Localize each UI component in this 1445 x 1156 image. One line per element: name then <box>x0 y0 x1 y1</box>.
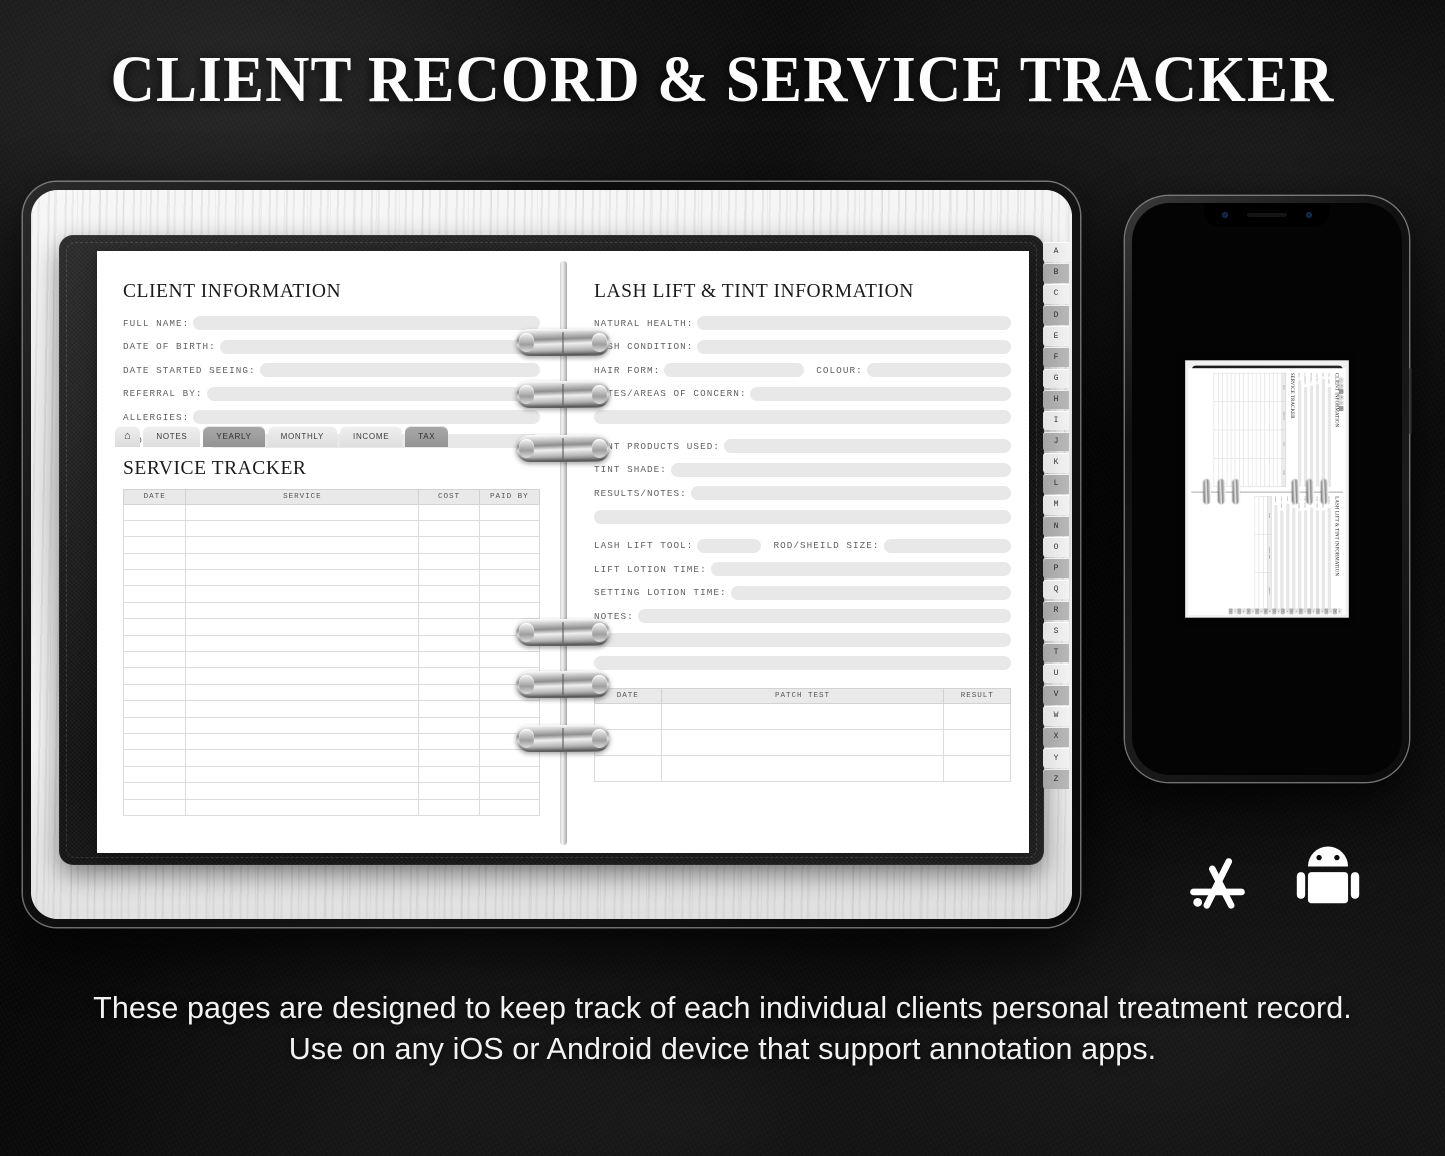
mini-planner-spread: ⌂ N Y M I T CLIENT INFORMATION FULL NAME… <box>1188 368 1345 615</box>
mini-binder-ring <box>1233 479 1240 504</box>
table-cell[interactable] <box>124 799 186 815</box>
table-cell[interactable] <box>479 537 539 553</box>
field-label-rod-shield-size: ROD/SHEILD SIZE: <box>773 540 879 551</box>
mini-field: MEDS: <box>1298 373 1302 487</box>
table-cell[interactable] <box>124 684 186 700</box>
field-results-notes-line2[interactable] <box>594 510 1011 524</box>
mini-field: RESULTS: <box>1292 496 1296 610</box>
table-row[interactable] <box>595 704 1011 730</box>
phone-screen: ⌂ N Y M I T CLIENT INFORMATION FULL NAME… <box>1132 203 1402 775</box>
notes-areas-of-concern-input-2[interactable] <box>594 410 1011 424</box>
nav-tab-monthly[interactable]: MONTHLY <box>268 426 337 447</box>
field-setting-lotion-time[interactable]: SETTING LOTION TIME: <box>594 586 1011 600</box>
date-started-seeing-input[interactable] <box>260 363 540 377</box>
table-row[interactable] <box>124 553 540 569</box>
field-hair-form-colour[interactable]: HAIR FORM: COLOUR: <box>594 363 1011 377</box>
table-cell[interactable] <box>595 756 662 782</box>
index-tab-p[interactable]: P <box>1043 558 1069 578</box>
table-cell[interactable] <box>124 520 186 536</box>
table-cell[interactable] <box>124 652 186 668</box>
table-row[interactable] <box>124 799 540 815</box>
table-cell[interactable] <box>419 537 479 553</box>
table-row[interactable] <box>124 619 540 635</box>
table-row[interactable] <box>124 602 540 618</box>
index-tab-d[interactable]: D <box>1043 305 1069 325</box>
index-tab-u[interactable]: U <box>1043 664 1069 684</box>
index-tab-f[interactable]: F <box>1043 347 1069 367</box>
field-tint-shade[interactable]: TINT SHADE: <box>594 463 1011 477</box>
phone-mockup: ⌂ N Y M I T CLIENT INFORMATION FULL NAME… <box>1125 196 1409 782</box>
column-header: SERVICE <box>186 489 419 504</box>
table-cell[interactable] <box>124 766 186 782</box>
table-cell[interactable] <box>124 701 186 717</box>
service-tracker-heading: SERVICE TRACKER <box>123 458 540 480</box>
table-cell[interactable] <box>419 570 479 586</box>
phone-notch <box>1204 203 1330 227</box>
mini-field: STARTED: <box>1316 373 1320 487</box>
mini-binder-ring <box>1307 479 1314 504</box>
mini-field: DOB: <box>1322 373 1326 487</box>
mini-field: CONCERN: <box>1310 496 1314 610</box>
binder-ring <box>516 329 610 356</box>
table-cell[interactable] <box>124 733 186 749</box>
index-tab-c[interactable]: C <box>1043 284 1069 304</box>
field-label: TINT SHADE: <box>594 464 667 475</box>
mini-field: LASH COND: <box>1322 496 1326 610</box>
lash-lift-tool-input[interactable] <box>697 539 761 553</box>
table-cell[interactable] <box>419 783 479 799</box>
field-date-of-birth[interactable]: DATE OF BIRTH: <box>123 340 540 354</box>
mini-service-table: DATESERVICECOSTPAID <box>1214 373 1286 487</box>
table-cell[interactable] <box>124 619 186 635</box>
mini-right-page: LASH LIFT & TINT INFORMATION NATURAL: LA… <box>1188 492 1345 615</box>
table-cell[interactable] <box>419 652 479 668</box>
table-row[interactable] <box>124 701 540 717</box>
table-cell[interactable] <box>186 537 419 553</box>
mini-binder-ring <box>1218 479 1225 504</box>
mini-nav-tab: I <box>1339 401 1344 405</box>
index-tab-z[interactable]: Z <box>1043 769 1069 789</box>
app-store-icon[interactable] <box>1180 842 1258 925</box>
index-tab-m[interactable]: M <box>1043 495 1069 515</box>
table-cell[interactable] <box>186 766 419 782</box>
front-camera-icon <box>1222 212 1228 218</box>
table-cell[interactable] <box>479 750 539 766</box>
table-cell[interactable] <box>186 586 419 602</box>
table-cell[interactable] <box>944 704 1011 730</box>
table-header-row: DATEPATCH TESTRESULT <box>595 689 1011 704</box>
mini-nav-tab: Y <box>1339 389 1344 394</box>
field-tint-products-used[interactable]: TINT PRODUCTS USED: <box>594 439 1011 453</box>
table-cell[interactable] <box>944 756 1011 782</box>
table-cell[interactable] <box>419 799 479 815</box>
table-cell[interactable] <box>479 586 539 602</box>
field-date-started-seeing[interactable]: DATE STARTED SEEING: <box>123 363 540 377</box>
field-notes-line3[interactable] <box>594 656 1011 670</box>
field-label: DATE STARTED SEEING: <box>123 365 256 376</box>
field-label: DATE OF BIRTH: <box>123 341 216 352</box>
table-cell[interactable] <box>419 619 479 635</box>
mini-field: NOTES: <box>1274 496 1278 610</box>
table-cell[interactable] <box>419 586 479 602</box>
nav-tab-home[interactable]: ⌂ <box>115 426 140 447</box>
table-body[interactable] <box>124 504 540 815</box>
table-cell[interactable] <box>124 717 186 733</box>
table-cell[interactable] <box>186 635 419 651</box>
table-cell[interactable] <box>419 750 479 766</box>
table-row[interactable] <box>124 783 540 799</box>
index-tab-r[interactable]: R <box>1043 601 1069 621</box>
field-label: HAIR FORM: <box>594 365 660 376</box>
table-cell[interactable] <box>419 504 479 520</box>
field-referral-by[interactable]: REFERRAL BY: <box>123 387 540 401</box>
tint-shade-input[interactable] <box>671 463 1011 477</box>
table-cell[interactable] <box>124 635 186 651</box>
binder-ring <box>516 619 610 646</box>
field-lash-condition[interactable]: LASH CONDITION: <box>594 340 1011 354</box>
table-cell[interactable] <box>124 570 186 586</box>
mini-nav-tabs: ⌂ N Y M I T <box>1339 377 1344 410</box>
full-name-input[interactable] <box>193 316 540 330</box>
table-cell[interactable] <box>479 799 539 815</box>
service-tracker-table[interactable]: DATESERVICECOSTPAID BY <box>123 489 540 816</box>
table-cell[interactable] <box>944 730 1011 756</box>
lift-lotion-time-input[interactable] <box>711 562 1011 576</box>
table-cell[interactable] <box>186 570 419 586</box>
phone-planner-preview: ⌂ N Y M I T CLIENT INFORMATION FULL NAME… <box>1185 360 1349 617</box>
mini-left-page: CLIENT INFORMATION FULL NAME: DOB: START… <box>1188 368 1345 491</box>
table-cell[interactable] <box>419 717 479 733</box>
table-cell[interactable] <box>186 520 419 536</box>
table-cell[interactable] <box>186 684 419 700</box>
index-tab-w[interactable]: W <box>1043 706 1069 726</box>
table-cell[interactable] <box>479 504 539 520</box>
mini-binder-ring <box>1204 479 1211 504</box>
mini-service-tracker-heading: SERVICE TRACKER <box>1289 373 1295 487</box>
field-notes-line2[interactable] <box>594 633 1011 647</box>
table-cell[interactable] <box>661 730 944 756</box>
table-cell[interactable] <box>124 750 186 766</box>
table-cell[interactable] <box>661 704 944 730</box>
index-tab-s[interactable]: S <box>1043 622 1069 642</box>
table-row[interactable] <box>595 730 1011 756</box>
notes-areas-of-concern-input[interactable] <box>750 387 1011 401</box>
table-cell[interactable] <box>186 701 419 717</box>
table-row[interactable] <box>124 684 540 700</box>
index-tab-x[interactable]: X <box>1043 727 1069 747</box>
results-notes-input[interactable] <box>691 486 1011 500</box>
nav-tab-tax[interactable]: TAX <box>405 426 448 447</box>
planner-nav-tabs[interactable]: ⌂ NOTES YEARLY MONTHLY INCOME TAX <box>115 426 448 447</box>
index-tab-h[interactable]: H <box>1043 390 1069 410</box>
mini-lash-lift-heading: LASH LIFT & TINT INFORMATION <box>1334 496 1340 610</box>
natural-health-input[interactable] <box>697 316 1011 330</box>
lash-condition-input[interactable] <box>697 340 1011 354</box>
table-row[interactable] <box>124 570 540 586</box>
referral-by-input[interactable] <box>207 387 540 401</box>
mini-field: NATURAL: <box>1327 496 1331 610</box>
rod-shield-size-input[interactable] <box>884 539 1011 553</box>
tablet-mockup: ⌂ NOTES YEARLY MONTHLY INCOME TAX CLIENT… <box>23 182 1080 927</box>
index-tab-t[interactable]: T <box>1043 643 1069 663</box>
index-tab-y[interactable]: Y <box>1043 748 1069 768</box>
store-badges <box>1180 842 1364 925</box>
mini-field: HAIR FORM: <box>1316 496 1320 610</box>
table-cell[interactable] <box>479 602 539 618</box>
table-cell[interactable] <box>124 504 186 520</box>
planner-spread: CLIENT INFORMATION FULL NAME: DATE OF BI… <box>97 251 1029 853</box>
table-row[interactable] <box>124 652 540 668</box>
table-row[interactable] <box>124 635 540 651</box>
mini-patch-table: DATEPATCH TESTRESULT <box>1254 496 1271 610</box>
table-cell[interactable] <box>419 684 479 700</box>
table-row[interactable] <box>124 766 540 782</box>
index-tab-i[interactable]: I <box>1043 411 1069 431</box>
table-cell[interactable] <box>186 652 419 668</box>
table-cell[interactable] <box>419 553 479 569</box>
index-tab-q[interactable]: Q <box>1043 580 1069 600</box>
speaker-grille <box>1247 213 1287 217</box>
field-label: FULL NAME: <box>123 318 189 329</box>
results-notes-input-2[interactable] <box>594 510 1011 524</box>
tint-products-used-input[interactable] <box>724 439 1011 453</box>
notes-input[interactable] <box>638 609 1011 623</box>
nav-tab-yearly[interactable]: YEARLY <box>203 426 264 447</box>
index-tab-a[interactable]: A <box>1043 242 1069 262</box>
mini-field: FULL NAME: <box>1327 373 1331 487</box>
column-header: PAID BY <box>479 489 539 504</box>
table-cell[interactable] <box>124 668 186 684</box>
nav-tab-income[interactable]: INCOME <box>340 426 402 447</box>
tablet-screen: ⌂ NOTES YEARLY MONTHLY INCOME TAX CLIENT… <box>31 190 1072 919</box>
field-label: REFERRAL BY: <box>123 388 203 399</box>
field-label: NOTES/AREAS OF CONCERN: <box>594 388 746 399</box>
description-caption: These pages are designed to keep track o… <box>63 988 1383 1069</box>
table-row[interactable] <box>124 717 540 733</box>
table-cell[interactable] <box>479 766 539 782</box>
table-cell[interactable] <box>419 635 479 651</box>
allergies-input[interactable] <box>193 410 540 424</box>
table-cell[interactable] <box>479 520 539 536</box>
index-tab-o[interactable]: O <box>1043 537 1069 557</box>
table-cell[interactable] <box>661 756 944 782</box>
field-natural-health[interactable]: NATURAL HEALTH: <box>594 316 1011 330</box>
table-row[interactable] <box>124 750 540 766</box>
table-cell[interactable] <box>186 799 419 815</box>
home-icon: ⌂ <box>124 431 131 442</box>
mini-nav-tab: T <box>1339 406 1344 411</box>
index-tab-v[interactable]: V <box>1043 685 1069 705</box>
column-header: RESULT <box>944 689 1011 704</box>
table-cell[interactable] <box>186 553 419 569</box>
mini-nav-tab: N <box>1339 383 1344 388</box>
android-icon[interactable] <box>1292 842 1364 925</box>
table-cell[interactable] <box>186 750 419 766</box>
index-tab-k[interactable]: K <box>1043 453 1069 473</box>
mini-field: LIFT TIME: <box>1280 496 1284 610</box>
planner-right-page: LASH LIFT & TINT INFORMATION NATURAL HEA… <box>558 251 1029 853</box>
alphabet-index-tabs[interactable]: ABCDEFGHIJKLMNOPQRSTUVWXYZ <box>1043 242 1069 789</box>
table-cell[interactable] <box>124 586 186 602</box>
table-cell[interactable] <box>124 602 186 618</box>
index-tab-l[interactable]: L <box>1043 474 1069 494</box>
table-cell[interactable] <box>186 619 419 635</box>
field-notes[interactable]: NOTES: <box>594 609 1011 623</box>
table-cell[interactable] <box>419 766 479 782</box>
column-header: COST <box>419 489 479 504</box>
table-cell[interactable] <box>419 668 479 684</box>
field-label: TINT PRODUCTS USED: <box>594 441 720 452</box>
phone-power-button[interactable] <box>1409 368 1412 434</box>
table-header-row: DATESERVICECOSTPAID BY <box>124 489 540 504</box>
notes-input-2[interactable] <box>594 633 1011 647</box>
notes-input-3[interactable] <box>594 656 1011 670</box>
index-tab-n[interactable]: N <box>1043 516 1069 536</box>
table-row[interactable] <box>124 504 540 520</box>
table-cell[interactable] <box>124 537 186 553</box>
index-tab-g[interactable]: G <box>1043 369 1069 389</box>
colour-input[interactable] <box>867 363 1011 377</box>
page-title: CLIENT RECORD & SERVICE TRACKER <box>51 47 1395 113</box>
table-cell[interactable] <box>419 520 479 536</box>
lash-lift-tint-heading: LASH LIFT & TINT INFORMATION <box>594 281 1011 303</box>
table-cell[interactable] <box>419 733 479 749</box>
nav-tab-notes[interactable]: NOTES <box>143 426 200 447</box>
planner-left-page: CLIENT INFORMATION FULL NAME: DATE OF BI… <box>97 251 558 853</box>
patch-test-table[interactable]: DATEPATCH TESTRESULT <box>594 688 1011 782</box>
table-row[interactable] <box>124 668 540 684</box>
table-cell[interactable] <box>186 717 419 733</box>
table-cell[interactable] <box>479 783 539 799</box>
table-cell[interactable] <box>186 783 419 799</box>
table-cell[interactable] <box>186 733 419 749</box>
table-cell[interactable] <box>186 504 419 520</box>
table-body[interactable] <box>595 704 1011 782</box>
index-tab-e[interactable]: E <box>1043 326 1069 346</box>
index-tab-j[interactable]: J <box>1043 432 1069 452</box>
mini-nav-tab: M <box>1339 395 1344 400</box>
mini-field: ALLERGIES: <box>1304 373 1308 487</box>
field-results-notes[interactable]: RESULTS/NOTES: <box>594 486 1011 500</box>
table-cell[interactable] <box>186 602 419 618</box>
mini-alphabet-tabs: ABCDEFGHIJKLMNOPQRSTUVWXYZ <box>1229 608 1342 614</box>
binder-ring <box>516 671 610 698</box>
mini-nav-tab: ⌂ <box>1339 377 1344 382</box>
field-lift-lotion-time[interactable]: LIFT LOTION TIME: <box>594 562 1011 576</box>
table-row[interactable] <box>124 586 540 602</box>
table-cell[interactable] <box>479 553 539 569</box>
binder-ring <box>516 725 610 752</box>
leather-binder: CLIENT INFORMATION FULL NAME: DATE OF BI… <box>59 235 1044 865</box>
field-label: LASH LIFT TOOL: <box>594 540 693 551</box>
field-label: SETTING LOTION TIME: <box>594 587 727 598</box>
table-cell[interactable] <box>124 553 186 569</box>
table-cell[interactable] <box>479 701 539 717</box>
field-label: LIFT LOTION TIME: <box>594 564 707 575</box>
column-header: DATE <box>124 489 186 504</box>
column-header: PATCH TEST <box>661 689 944 704</box>
date-of-birth-input[interactable] <box>220 340 540 354</box>
client-information-heading: CLIENT INFORMATION <box>123 281 540 303</box>
field-label: NATURAL HEALTH: <box>594 318 693 329</box>
field-notes-areas-of-concern-line2[interactable] <box>594 410 1011 424</box>
field-full-name[interactable]: FULL NAME: <box>123 316 540 330</box>
table-cell[interactable] <box>595 704 662 730</box>
table-cell[interactable] <box>124 783 186 799</box>
mini-binder-ring <box>1321 479 1328 504</box>
table-cell[interactable] <box>186 668 419 684</box>
binder-ring <box>516 435 610 462</box>
field-notes-areas-of-concern[interactable]: NOTES/AREAS OF CONCERN: <box>594 387 1011 401</box>
binder-ring <box>516 381 610 408</box>
mini-field: TINT SHADE: <box>1298 496 1302 610</box>
table-cell[interactable] <box>479 652 539 668</box>
table-cell[interactable] <box>419 701 479 717</box>
field-label-colour: COLOUR: <box>816 365 862 376</box>
sensor-icon <box>1306 212 1312 218</box>
hair-form-input[interactable] <box>664 363 804 377</box>
table-cell[interactable] <box>479 570 539 586</box>
field-lash-lift-tool-rod-size[interactable]: LASH LIFT TOOL: ROD/SHEILD SIZE: <box>594 539 1011 553</box>
index-tab-b[interactable]: B <box>1043 263 1069 283</box>
table-row[interactable] <box>124 733 540 749</box>
mini-field: TOOL: <box>1286 496 1290 610</box>
table-row[interactable] <box>124 520 540 536</box>
table-row[interactable] <box>595 756 1011 782</box>
field-label: RESULTS/NOTES: <box>594 488 687 499</box>
mini-field: TINT PROD: <box>1304 496 1308 610</box>
field-allergies[interactable]: ALLERGIES: <box>123 410 540 424</box>
mini-field: REFERRAL: <box>1310 373 1314 487</box>
table-row[interactable] <box>124 537 540 553</box>
table-cell[interactable] <box>419 602 479 618</box>
setting-lotion-time-input[interactable] <box>731 586 1011 600</box>
field-label: ALLERGIES: <box>123 412 189 423</box>
mini-binder-ring <box>1292 479 1299 504</box>
